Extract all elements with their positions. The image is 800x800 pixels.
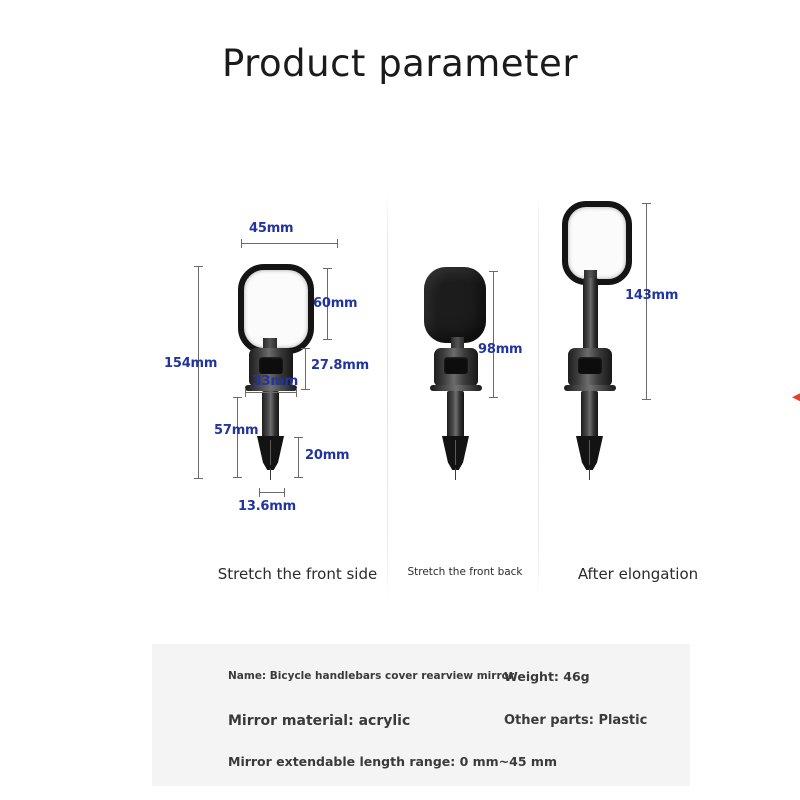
dim-label-plug-length: 20mm: [305, 448, 349, 463]
mount-stem: [581, 391, 598, 438]
spec-other-parts: Other parts: Plastic: [504, 713, 647, 728]
dim-line-plug-width: [259, 492, 285, 493]
mount-stem: [447, 391, 464, 438]
dim-label-stem-length: 57mm: [214, 423, 258, 438]
dim-label-mirror-height: 60mm: [313, 296, 357, 311]
dim-line-clamp-height: [305, 348, 306, 390]
dim-label-width-top: 45mm: [249, 221, 293, 236]
spec-product-name: Name: Bicycle handlebars cover rearview …: [228, 670, 514, 682]
dim-label-total-height: 98mm: [478, 342, 522, 357]
dim-line-plug-length: [298, 437, 299, 478]
panel-divider-right: [538, 190, 539, 600]
plug-pin: [455, 468, 456, 480]
dim-label-clamp-width: 33mm: [252, 373, 298, 389]
dim-label-total-height: 154mm: [164, 356, 217, 371]
panel-divider-left: [387, 190, 388, 600]
dim-label-plug-width: 13.6mm: [238, 499, 296, 514]
page-title: Product parameter: [0, 42, 800, 85]
mirror-head-back: [424, 267, 486, 343]
clamp-body: [434, 348, 478, 386]
specifications-panel: Name: Bicycle handlebars cover rearview …: [152, 644, 690, 786]
dim-line-total-height: [493, 271, 494, 398]
plug-pin: [270, 468, 271, 480]
chevron-left-icon[interactable]: ◀: [792, 386, 800, 406]
plug-seam: [589, 440, 590, 465]
extension-rod: [583, 278, 598, 354]
clamp-body: [568, 348, 612, 386]
dim-line-width-top: [241, 243, 338, 244]
dim-line-total-height: [198, 266, 199, 479]
plug-seam: [455, 440, 456, 465]
plug-pin: [589, 468, 590, 480]
dim-label-clamp-height: 27.8mm: [311, 358, 369, 373]
clamp-slot: [578, 357, 602, 374]
caption-after-elongation: After elongation: [548, 565, 728, 583]
mount-stem: [262, 391, 279, 438]
spec-extendable-range: Mirror extendable length range: 0 mm~45 …: [228, 754, 557, 769]
clamp-slot: [259, 357, 283, 374]
spec-weight: Weight: 46g: [504, 669, 590, 684]
dim-line-clamp-width: [245, 392, 297, 393]
dim-label-total-height: 143mm: [625, 288, 678, 303]
plug-seam: [270, 440, 271, 465]
mirror-head-ring: [562, 201, 632, 285]
clamp-slot: [444, 357, 468, 374]
spec-mirror-material: Mirror material: acrylic: [228, 713, 410, 729]
caption-front-back: Stretch the front back: [392, 566, 538, 578]
